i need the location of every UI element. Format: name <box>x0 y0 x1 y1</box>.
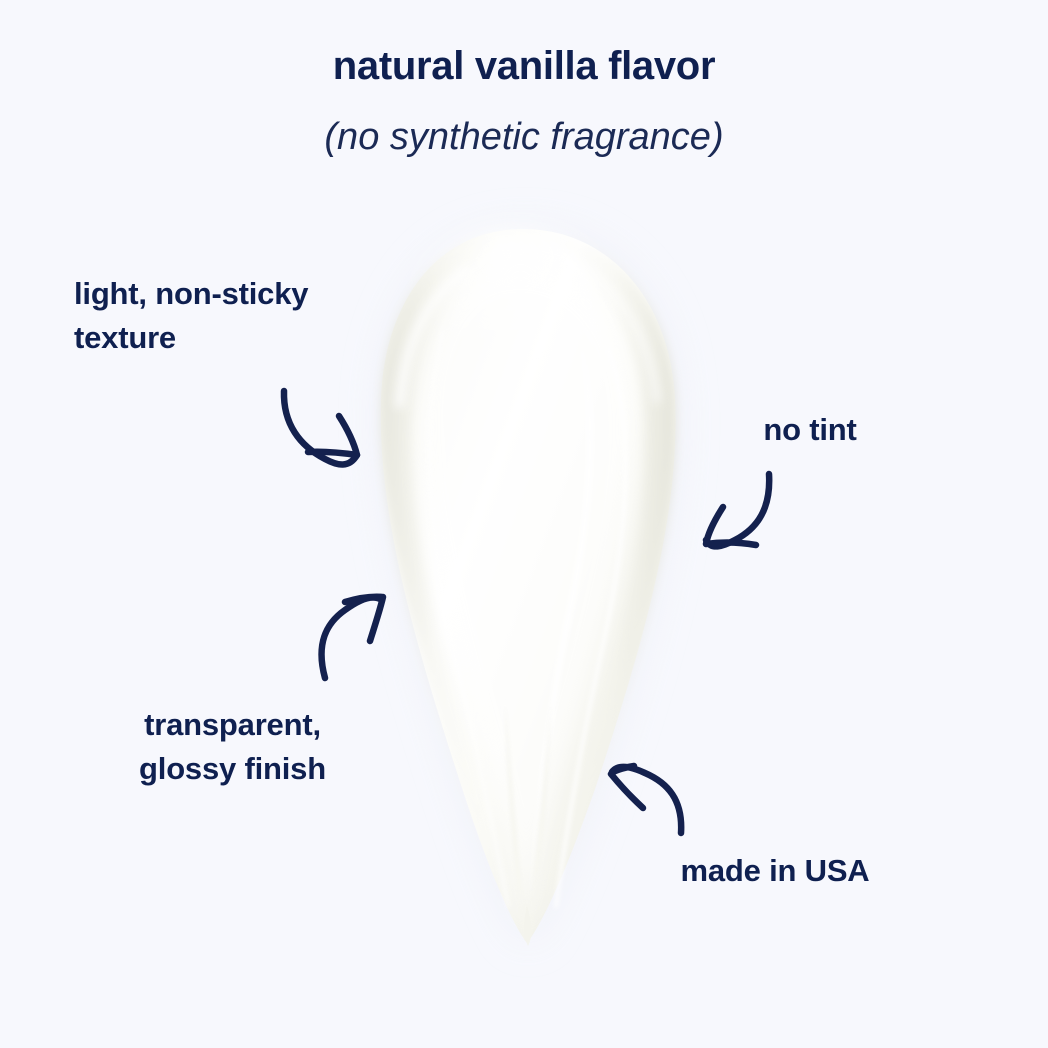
annotation-layer: natural vanilla flavor (no synthetic fra… <box>0 0 1048 1048</box>
arrow-up-left-icon <box>611 766 681 833</box>
product-infographic: natural vanilla flavor (no synthetic fra… <box>0 0 1048 1048</box>
arrow-down-left-icon <box>706 474 769 546</box>
annotation-arrows <box>0 0 1048 1048</box>
arrow-down-right-icon <box>284 391 357 465</box>
arrow-up-right-icon <box>322 597 383 678</box>
